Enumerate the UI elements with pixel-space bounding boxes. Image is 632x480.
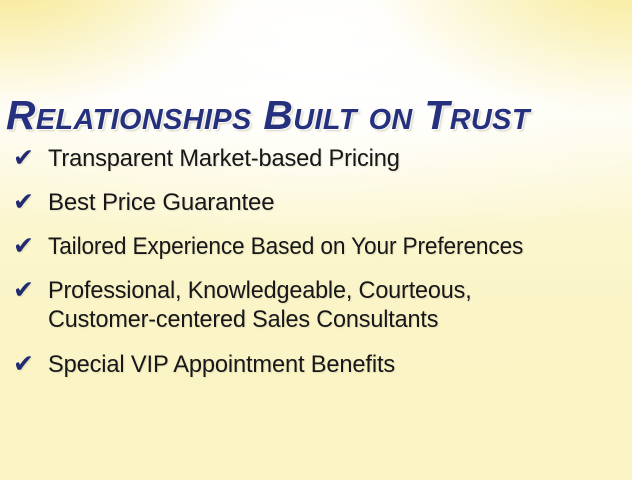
page-title-container: Relationships Built on Trust (0, 92, 632, 142)
list-item: ✔ Transparent Market-based Pricing (0, 144, 632, 174)
list-item-text: Special VIP Appointment Benefits (48, 350, 623, 380)
list-item: ✔ Best Price Guarantee (0, 188, 632, 218)
check-icon: ✔ (13, 231, 39, 261)
benefits-list: ✔ Transparent Market-based Pricing ✔ Bes… (0, 144, 632, 380)
list-item: ✔ Tailored Experience Based on Your Pref… (0, 232, 632, 262)
list-item: ✔ Professional, Knowledgeable, Courteous… (0, 276, 632, 334)
list-item-line: Tailored Experience Based on Your Prefer… (48, 232, 600, 262)
list-item-line: Best Price Guarantee (48, 188, 632, 218)
list-item: ✔ Special VIP Appointment Benefits (0, 350, 632, 380)
list-item-text: Transparent Market-based Pricing (48, 144, 623, 174)
list-item-text: Best Price Guarantee (48, 188, 632, 218)
list-item-text: Tailored Experience Based on Your Prefer… (48, 232, 600, 262)
check-icon: ✔ (13, 349, 39, 379)
list-item-line: Customer-centered Sales Consultants (48, 305, 617, 334)
list-item-line: Transparent Market-based Pricing (48, 144, 623, 174)
check-icon: ✔ (13, 187, 39, 217)
slide-canvas: Relationships Built on Trust ✔ Transpare… (0, 0, 632, 480)
check-icon: ✔ (13, 275, 39, 305)
list-item-text: Professional, Knowledgeable, Courteous, … (48, 276, 617, 334)
page-title: Relationships Built on Trust (0, 92, 629, 138)
check-icon: ✔ (13, 143, 39, 173)
list-item-line: Professional, Knowledgeable, Courteous, (48, 276, 617, 305)
list-item-line: Special VIP Appointment Benefits (48, 350, 623, 380)
